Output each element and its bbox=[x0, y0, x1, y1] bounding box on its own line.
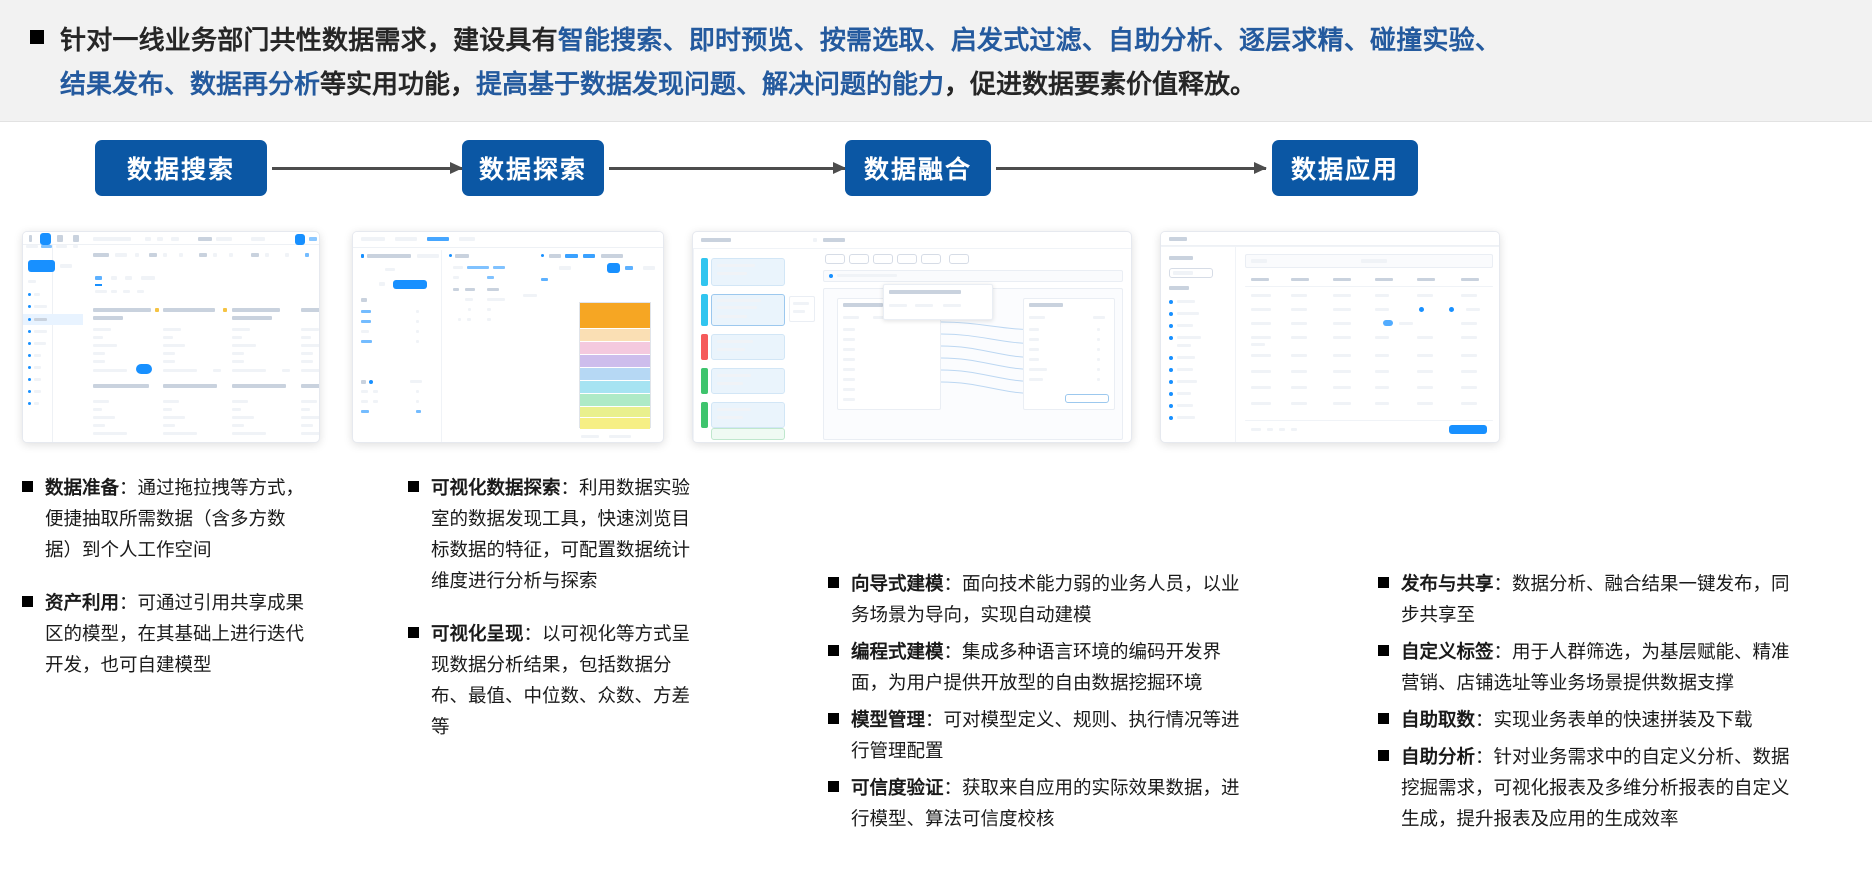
table-r5-c1 bbox=[1251, 354, 1271, 357]
pagination-page-1[interactable] bbox=[1267, 428, 1273, 431]
sidebar-item-5-label[interactable] bbox=[34, 354, 41, 357]
result-sort-2[interactable] bbox=[111, 290, 117, 293]
canvas-title bbox=[823, 238, 845, 242]
bullet-sep: ： bbox=[944, 641, 963, 662]
chart-tab-1[interactable] bbox=[565, 254, 578, 258]
mapping-target-r5 bbox=[1029, 368, 1047, 371]
table-r2-status-dot-2 bbox=[1449, 307, 1454, 312]
table-r2-c4 bbox=[1375, 308, 1389, 311]
stats-cell-3-0 bbox=[458, 318, 461, 321]
filter-item-10-label[interactable] bbox=[1177, 416, 1195, 419]
header-band: 针对一线业务部门共性数据需求，建设具有智能搜索、即时预览、按需选取、启发式过滤、… bbox=[0, 0, 1872, 122]
bullet-text: 编程式建模：集成多种语言环境的编码开发界面，为用户提供开放型的自由数据挖掘环境 bbox=[851, 636, 1241, 698]
search-input[interactable] bbox=[93, 237, 131, 241]
mapping-target-r6-val bbox=[1097, 378, 1100, 381]
bullet-text: 可视化数据探索：利用数据实验室的数据发现工具，快速浏览目标数据的特征，可配置数据… bbox=[431, 472, 693, 596]
card-2-footer-action[interactable] bbox=[213, 369, 221, 372]
mapping-target-col-2 bbox=[1093, 316, 1105, 319]
table-r4-c3 bbox=[1333, 336, 1351, 339]
card-1-badge-icon bbox=[155, 308, 159, 312]
palette-item-2-title-2 bbox=[717, 306, 757, 309]
filter-item-7-icon bbox=[1169, 380, 1173, 384]
stats-cell-3-2 bbox=[487, 318, 491, 321]
sidebar-item-3-label[interactable] bbox=[34, 330, 47, 333]
flow-step-data-exploration[interactable]: 数据探索 bbox=[462, 140, 604, 196]
create-button[interactable] bbox=[28, 260, 55, 272]
filter-item-1-icon bbox=[1169, 300, 1173, 304]
table-r1-c3 bbox=[1333, 294, 1351, 297]
palette-item-3[interactable] bbox=[711, 334, 785, 360]
field-item-2[interactable] bbox=[361, 320, 371, 323]
bullet-text: 资产利用：可通过引用共享成果区的模型，在其基础上进行迭代开发，也可自建模型 bbox=[45, 587, 307, 680]
mapping-source-col-1 bbox=[843, 316, 859, 319]
bullet-sep: ： bbox=[561, 477, 580, 498]
sidebar-item-5-icon bbox=[28, 354, 31, 357]
table-r7-c4 bbox=[1375, 386, 1389, 389]
palette-group-2-color bbox=[701, 294, 708, 326]
card-3-meta-4 bbox=[232, 352, 244, 355]
result-tab-2[interactable] bbox=[111, 276, 117, 280]
table-r2-c6 bbox=[1466, 308, 1480, 311]
palette-group-5-color bbox=[701, 402, 708, 428]
process-flow: 数据搜索 数据探索 数据融合 数据应用 bbox=[0, 140, 1872, 218]
table-header-rule bbox=[1245, 286, 1493, 287]
table-r7-c5 bbox=[1417, 386, 1433, 389]
bullet-sep: ： bbox=[944, 573, 963, 594]
left-pane-subtitle bbox=[417, 254, 439, 258]
field-item-3[interactable] bbox=[361, 330, 369, 333]
table-r3-c5 bbox=[1399, 322, 1413, 325]
legend-swatch-3 bbox=[580, 342, 650, 355]
flow-step-data-application[interactable]: 数据应用 bbox=[1272, 140, 1418, 196]
canvas-tool-1[interactable] bbox=[825, 254, 845, 264]
palette-run-node[interactable] bbox=[711, 428, 785, 440]
table-col-5 bbox=[1417, 278, 1435, 281]
field-item-1[interactable] bbox=[361, 310, 371, 313]
filter-chip-5[interactable] bbox=[229, 253, 233, 257]
result-sort-1[interactable] bbox=[95, 290, 107, 293]
chart-axis-note bbox=[523, 294, 537, 297]
stats-cell-2-2 bbox=[487, 308, 491, 311]
sidebar-secondary-button[interactable] bbox=[60, 264, 72, 268]
palette-item-4-sub bbox=[717, 382, 743, 385]
card-2-title[interactable] bbox=[163, 308, 215, 312]
chart-title bbox=[549, 254, 561, 258]
card-3-footer-action[interactable] bbox=[282, 369, 290, 372]
table-r7-c2 bbox=[1291, 386, 1307, 389]
table-r6-c2 bbox=[1291, 370, 1307, 373]
card-3-title[interactable] bbox=[232, 308, 280, 312]
search-filter-3[interactable] bbox=[171, 237, 179, 241]
table-r5-c2 bbox=[1291, 354, 1307, 357]
card-8-meta-1 bbox=[301, 400, 317, 403]
chart-marker-icon bbox=[541, 254, 544, 257]
screenshot-canvas bbox=[353, 232, 663, 442]
breadcrumb-1[interactable] bbox=[361, 237, 385, 241]
card-5-meta-4 bbox=[93, 424, 105, 427]
breadcrumb-2[interactable] bbox=[395, 237, 417, 241]
result-sort-3[interactable] bbox=[123, 290, 130, 293]
search-filter-1[interactable] bbox=[145, 237, 151, 241]
card-7-footer bbox=[232, 432, 266, 435]
filter-group-3-label bbox=[199, 253, 207, 257]
filter-chip-7[interactable] bbox=[285, 253, 289, 257]
sidebar-item-9-label[interactable] bbox=[34, 402, 39, 405]
mapping-target-r4-val bbox=[1097, 358, 1100, 361]
table-r8-c5 bbox=[1417, 402, 1433, 405]
nav-icon-3[interactable] bbox=[73, 235, 79, 242]
palette-item-2-title bbox=[717, 299, 761, 302]
second-item-3[interactable] bbox=[361, 410, 369, 413]
palette-item-5-sub bbox=[717, 416, 743, 419]
chart-tab-2[interactable] bbox=[583, 254, 595, 258]
sidebar-section-title bbox=[28, 280, 36, 283]
second-list-add-icon[interactable] bbox=[369, 380, 373, 384]
filter-chip-3[interactable] bbox=[179, 253, 183, 257]
bullet-item: 发布与共享：数据分析、融合结果一键发布，同步共享至 bbox=[1378, 568, 1848, 630]
bullet-title: 自助分析 bbox=[1401, 746, 1475, 767]
bullet-text: 自助取数：实现业务表单的快速拼装及下载 bbox=[1401, 704, 1791, 735]
table-header-search[interactable] bbox=[1361, 259, 1387, 263]
pagination-page-2[interactable] bbox=[1279, 428, 1285, 431]
sidebar-item-6-icon bbox=[28, 366, 31, 369]
card-8-meta-4 bbox=[301, 424, 313, 427]
bullet-sep: ： bbox=[1475, 746, 1494, 767]
chart-type-selected-button[interactable] bbox=[607, 263, 620, 273]
filter-item-3-label[interactable] bbox=[1177, 324, 1193, 327]
table-r5-c5 bbox=[1417, 354, 1433, 357]
card-5-footer bbox=[93, 432, 127, 435]
table-r4-c2 bbox=[1291, 336, 1307, 339]
tooltip-line-2 bbox=[793, 310, 805, 313]
palette-group-3-color bbox=[701, 334, 708, 360]
node-config-field-3 bbox=[943, 304, 961, 307]
card-7-meta-1 bbox=[232, 400, 248, 403]
bullet-title: 编程式建模 bbox=[851, 641, 944, 662]
data-search-screenshot[interactable] bbox=[22, 231, 320, 443]
card-4-meta-2 bbox=[301, 336, 311, 339]
second-list-meta bbox=[410, 380, 422, 383]
data-search-points: 数据准备：通过拖拉拽等方式，便捷抽取所需数据（含多方数据）到个人工作空间 资产利… bbox=[22, 472, 322, 686]
table-footer-rule bbox=[1245, 420, 1493, 421]
search-value bbox=[216, 237, 232, 241]
sidebar-item-1-icon bbox=[28, 305, 31, 308]
table-r3-c1 bbox=[1251, 322, 1271, 325]
table-r6-c1 bbox=[1251, 370, 1271, 373]
mapping-source-r6c1 bbox=[843, 378, 855, 381]
field-item-4[interactable] bbox=[361, 340, 372, 343]
logo-icon bbox=[29, 235, 32, 242]
breadcrumb-active[interactable] bbox=[427, 237, 449, 241]
header-l2-accent-1: 结果发布、数据再分析 bbox=[60, 69, 320, 99]
bullet-body: 实现业务表单的快速拼装及下载 bbox=[1494, 709, 1753, 730]
table-r3-badge bbox=[1383, 320, 1393, 326]
card-6-meta-4 bbox=[163, 424, 175, 427]
card-1-meta-2 bbox=[93, 336, 103, 339]
mapping-target-r5-val bbox=[1097, 368, 1100, 371]
card-3-meta-1 bbox=[232, 328, 250, 331]
canvas-notice-text bbox=[837, 274, 897, 277]
sidebar-item-0-label[interactable] bbox=[34, 293, 40, 296]
palette-item-1-title bbox=[717, 264, 755, 267]
table-col-1 bbox=[1251, 278, 1269, 281]
palette-edge bbox=[693, 248, 694, 443]
table-r1-c6 bbox=[1461, 294, 1477, 297]
chart-tab-3[interactable] bbox=[601, 254, 623, 258]
filter-item-6-label[interactable] bbox=[1177, 368, 1193, 371]
pagination-page-3[interactable] bbox=[1291, 428, 1297, 431]
bullet-title: 向导式建模 bbox=[851, 573, 944, 594]
flow-step-data-fusion[interactable]: 数据融合 bbox=[845, 140, 991, 196]
bullet-text: 可信度验证：获取来自应用的实际效果数据，进行模型、算法可信度校核 bbox=[851, 772, 1241, 834]
bullet-sep: ： bbox=[1494, 641, 1513, 662]
field-item-2-action[interactable] bbox=[416, 320, 419, 323]
square-bullet-icon bbox=[408, 481, 419, 492]
square-bullet-icon bbox=[828, 713, 839, 724]
sidebar-item-1-label[interactable] bbox=[34, 305, 47, 308]
filter-item-5-label[interactable] bbox=[1177, 356, 1195, 359]
breadcrumb-3[interactable] bbox=[459, 237, 475, 241]
bullet-sep: ： bbox=[925, 709, 944, 730]
filter-search-placeholder bbox=[1173, 271, 1193, 275]
bullet-item: 模型管理：可对模型定义、规则、执行情况等进行管理配置 bbox=[828, 704, 1268, 766]
legend-swatch-5 bbox=[580, 368, 650, 381]
card-8-title[interactable] bbox=[301, 384, 320, 388]
card-4-meta-1 bbox=[301, 328, 319, 331]
header-l1-plain: 针对一线业务部门共性数据需求，建设具有 bbox=[60, 25, 558, 55]
search-label bbox=[198, 237, 212, 241]
palette-group-1-color bbox=[701, 258, 708, 286]
table-tab-1[interactable] bbox=[1251, 259, 1267, 263]
filter-reset-button[interactable] bbox=[305, 253, 309, 257]
card-1-title[interactable] bbox=[93, 308, 151, 312]
topbar-divider bbox=[693, 248, 1132, 249]
sidebar-item-2-label[interactable] bbox=[34, 318, 47, 321]
nav-label-active bbox=[41, 245, 52, 248]
filter-item-1-label[interactable] bbox=[1177, 300, 1195, 303]
stats-cell-1-1 bbox=[465, 298, 473, 301]
second-item-1-action[interactable] bbox=[416, 390, 419, 393]
result-tab-active[interactable] bbox=[95, 276, 102, 280]
slide-root: 针对一线业务部门共性数据需求，建设具有智能搜索、即时预览、按需选取、启发式过滤、… bbox=[0, 0, 1872, 880]
square-bullet-icon bbox=[828, 577, 839, 588]
mapping-source-r8c1 bbox=[843, 398, 855, 401]
table-r1-c1 bbox=[1251, 294, 1271, 297]
field-item-4-action[interactable] bbox=[416, 340, 419, 343]
legend-swatch-8 bbox=[580, 407, 650, 418]
palette-item-3-sub bbox=[717, 348, 745, 351]
card-6-meta-1 bbox=[163, 400, 179, 403]
filter-pane-title bbox=[1169, 256, 1193, 260]
mapping-target-r3 bbox=[1029, 348, 1039, 351]
card-5-meta-1 bbox=[93, 400, 109, 403]
mapping-target-r3-val bbox=[1097, 348, 1100, 351]
table-col-3 bbox=[1333, 278, 1351, 281]
stats-cell-1-2 bbox=[487, 298, 505, 301]
square-bullet-icon bbox=[828, 645, 839, 656]
second-item-1[interactable] bbox=[361, 390, 368, 393]
field-item-1-action[interactable] bbox=[416, 310, 419, 313]
node-config-field-2 bbox=[915, 304, 933, 307]
second-item-2-action[interactable] bbox=[416, 400, 419, 403]
data-exploration-screenshot[interactable] bbox=[352, 231, 664, 443]
chart-type-button-3[interactable] bbox=[643, 266, 655, 270]
card-6-meta-3 bbox=[163, 416, 185, 419]
square-bullet-icon bbox=[22, 481, 33, 492]
palette-item-4[interactable] bbox=[711, 368, 785, 394]
card-2-meta-2 bbox=[163, 336, 173, 339]
palette-item-4-title bbox=[717, 374, 751, 377]
bullet-text: 向导式建模：面向技术能力弱的业务人员，以业务场景为导向，实现自动建模 bbox=[851, 568, 1241, 630]
table-r4-c1-sub bbox=[1251, 343, 1265, 346]
header-l1-accent: 智能搜索、即时预览、按需选取、启发式过滤、自助分析、逐层求精、碰撞实验、 bbox=[558, 25, 1501, 55]
nav-active-tab[interactable] bbox=[40, 233, 51, 245]
filter-chip-4[interactable] bbox=[213, 253, 217, 257]
card-1-meta-4 bbox=[93, 352, 105, 355]
panel-toggle-icon[interactable] bbox=[813, 238, 817, 242]
palette-item-5[interactable] bbox=[711, 402, 785, 428]
legend-swatch-2 bbox=[580, 329, 650, 342]
table-col-2 bbox=[1291, 278, 1309, 281]
filter-item-9-label[interactable] bbox=[1177, 404, 1193, 407]
canvas-tool-5[interactable] bbox=[921, 254, 941, 264]
flow-arrow-2-icon bbox=[609, 167, 845, 170]
result-sort-4[interactable] bbox=[137, 290, 144, 293]
card-2-footer bbox=[163, 369, 197, 372]
flow-arrow-1-icon bbox=[272, 167, 462, 170]
card-7-title[interactable] bbox=[232, 384, 286, 388]
mapping-target-r1-val bbox=[1097, 328, 1100, 331]
bullet-title: 发布与共享 bbox=[1401, 573, 1494, 594]
data-application-screenshot[interactable] bbox=[1160, 231, 1500, 443]
header-line-1-text: 针对一线业务部门共性数据需求，建设具有智能搜索、即时预览、按需选取、启发式过滤、… bbox=[60, 18, 1501, 62]
mapping-confirm-button[interactable] bbox=[1065, 394, 1109, 403]
mapping-target-r2 bbox=[1029, 338, 1039, 341]
filter-chip-1[interactable] bbox=[135, 253, 139, 257]
card-3-title-2 bbox=[232, 316, 272, 320]
filter-chip-2[interactable] bbox=[163, 253, 167, 257]
data-fusion-screenshot[interactable] bbox=[692, 231, 1132, 443]
header-inner: 针对一线业务部门共性数据需求，建设具有智能搜索、即时预览、按需选取、启发式过滤、… bbox=[30, 18, 1854, 106]
field-item-3-action[interactable] bbox=[416, 330, 419, 333]
table-r8-c4 bbox=[1375, 402, 1389, 405]
filter-group-1-value[interactable] bbox=[115, 253, 127, 257]
chart-sub-link[interactable] bbox=[541, 278, 548, 281]
pagination-prev[interactable] bbox=[1251, 428, 1261, 431]
filter-chip-6[interactable] bbox=[265, 253, 269, 257]
palette-item-5-title bbox=[717, 408, 751, 411]
canvas-tool-6[interactable] bbox=[949, 254, 969, 264]
card-2-meta-3 bbox=[163, 344, 185, 347]
data-application-points: 发布与共享：数据分析、融合结果一键发布，同步共享至 自定义标签：用于人群筛选，为… bbox=[1378, 568, 1848, 840]
left-pane-divider bbox=[1235, 246, 1236, 443]
bullet-text: 数据准备：通过拖拉拽等方式，便捷抽取所需数据（含多方数据）到个人工作空间 bbox=[45, 472, 307, 565]
canvas-tool-2[interactable] bbox=[849, 254, 869, 264]
filter-item-4-label[interactable] bbox=[1177, 336, 1201, 339]
filter-group-4-label bbox=[251, 253, 259, 257]
run-button[interactable] bbox=[393, 280, 427, 289]
filter-item-7-label[interactable] bbox=[1177, 380, 1197, 383]
bullet-sep: ： bbox=[524, 623, 543, 644]
sidebar-item-6-label[interactable] bbox=[34, 366, 41, 369]
app-topbar bbox=[1161, 232, 1499, 246]
mapping-source-title bbox=[843, 303, 883, 307]
search-filter-2[interactable] bbox=[157, 237, 163, 241]
flow-step-label: 数据搜索 bbox=[127, 150, 235, 186]
card-6-title[interactable] bbox=[163, 384, 217, 388]
left-pane-marker bbox=[361, 254, 364, 258]
card-8-meta-3 bbox=[301, 416, 320, 419]
sidebar-item-7-label[interactable] bbox=[34, 378, 41, 381]
second-item-3-action[interactable] bbox=[416, 410, 421, 413]
stats-row-link[interactable] bbox=[487, 276, 494, 279]
card-2-meta-5 bbox=[163, 360, 175, 363]
legend-swatch-1 bbox=[580, 303, 650, 329]
search-clear-button[interactable] bbox=[309, 237, 317, 241]
card-1-action-button[interactable] bbox=[136, 364, 152, 374]
square-bullet-icon bbox=[1378, 645, 1389, 656]
sidebar-item-9-icon bbox=[28, 402, 31, 405]
second-item-2[interactable] bbox=[361, 400, 368, 403]
field-list-title bbox=[361, 298, 367, 302]
canvas-tool-4[interactable] bbox=[897, 254, 917, 264]
filter-group-title bbox=[1169, 286, 1189, 290]
card-2-badge-icon bbox=[223, 308, 227, 312]
sidebar-item-4-label[interactable] bbox=[34, 342, 46, 345]
bullet-item: 可视化呈现：以可视化等方式呈现数据分析结果，包括数据分布、最值、中位数、众数、方… bbox=[408, 618, 718, 742]
stats-marker-icon bbox=[449, 254, 452, 257]
square-bullet-icon bbox=[1378, 750, 1389, 761]
flow-step-data-search[interactable]: 数据搜索 bbox=[95, 140, 267, 196]
stats-cell-2-1 bbox=[468, 308, 471, 311]
card-1-meta-5 bbox=[93, 360, 105, 363]
mapping-source-r1c1 bbox=[843, 328, 855, 331]
filter-item-2-label[interactable] bbox=[1177, 312, 1199, 315]
data-exploration-points: 可视化数据探索：利用数据实验室的数据发现工具，快速浏览目标数据的特征，可配置数据… bbox=[408, 472, 718, 748]
nav-icon-2[interactable] bbox=[57, 235, 63, 242]
report-breadcrumb[interactable] bbox=[1169, 237, 1187, 241]
export-button[interactable] bbox=[1449, 425, 1487, 434]
table-r5-c4 bbox=[1375, 354, 1389, 357]
result-tab-3[interactable] bbox=[125, 276, 132, 280]
card-4-title[interactable] bbox=[301, 308, 320, 312]
header-line-2: 结果发布、数据再分析等实用功能，提高基于数据发现问题、解决问题的能力，促进数据要… bbox=[60, 62, 1854, 106]
chart-type-button-2[interactable] bbox=[625, 266, 633, 270]
second-list-title bbox=[361, 380, 366, 384]
bullet-item: 可视化数据探索：利用数据实验室的数据发现工具，快速浏览目标数据的特征，可配置数据… bbox=[408, 472, 718, 596]
card-5-title[interactable] bbox=[93, 384, 149, 388]
card-5-meta-2 bbox=[93, 408, 102, 411]
card-3-meta-5 bbox=[232, 360, 244, 363]
stats-title bbox=[455, 254, 469, 258]
sidebar-item-8-label[interactable] bbox=[34, 390, 41, 393]
filter-item-10-icon bbox=[1169, 416, 1173, 420]
filter-item-8-label[interactable] bbox=[1177, 392, 1191, 395]
vertical-divider bbox=[441, 250, 442, 442]
canvas-tool-3[interactable] bbox=[873, 254, 893, 264]
bullet-text: 自定义标签：用于人群筛选，为基层赋能、精准营销、店铺选址等业务场景提供数据支撑 bbox=[1401, 636, 1791, 698]
card-7-meta-3 bbox=[232, 416, 254, 419]
nav-label-1 bbox=[26, 245, 38, 248]
bullet-sep: ： bbox=[1494, 573, 1513, 594]
sidebar-item-2-icon bbox=[28, 318, 31, 321]
bullet-title: 自助取数 bbox=[1401, 709, 1475, 730]
mapping-target-r4 bbox=[1029, 358, 1039, 361]
table-col-6 bbox=[1461, 278, 1479, 281]
search-submit-button[interactable] bbox=[295, 234, 305, 245]
mapping-source-r5c1 bbox=[843, 368, 855, 371]
mapping-source-r4c1 bbox=[843, 358, 855, 361]
